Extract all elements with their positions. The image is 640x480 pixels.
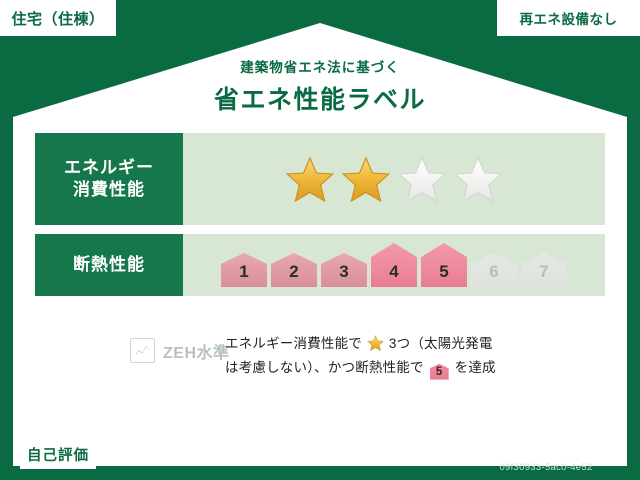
insulation-level-scale: 1 2 3 4 5 6 7 xyxy=(183,234,605,296)
insulation-badge-4: 4 xyxy=(371,243,417,287)
property-address: 千葉県市原市五井中央東二丁目 xyxy=(105,447,302,467)
title-block: 建築物省エネ法に基づく 省エネ性能ラベル xyxy=(0,56,640,116)
renewable-energy-tab: 再エネ設備なし xyxy=(497,0,640,36)
achievement-description-line1: エネルギー消費性能で 3つ（太陽光発電 xyxy=(225,332,615,356)
description-line2-post: を達成 xyxy=(455,360,496,375)
footer-bar: 自己評価 千葉県市原市五井中央東二丁目 評価日 2025年1月31日 09f30… xyxy=(0,434,640,480)
zeh-info-row: ZEH水準 エネルギー消費性能で 3つ（太陽光発電 は考慮しない）、かつ断熱性能… xyxy=(35,330,615,380)
star-icon-empty-4 xyxy=(454,156,502,202)
energy-performance-row: エネルギー 消費性能 xyxy=(35,133,605,225)
description-line1-pre: エネルギー消費性能で xyxy=(225,336,362,351)
inline-star-icon xyxy=(367,335,384,351)
energy-performance-label-line1: エネルギー xyxy=(64,157,154,179)
star-icon-empty-3 xyxy=(398,156,446,202)
insulation-badge-6-value: 6 xyxy=(489,262,498,282)
star-icon-filled-1 xyxy=(286,156,334,202)
description-line2-pre: は考慮しない）、かつ断熱性能で xyxy=(225,360,424,375)
energy-performance-label-line2: 消費性能 xyxy=(73,179,145,201)
page-title: 省エネ性能ラベル xyxy=(0,80,640,116)
insulation-badge-7: 7 xyxy=(521,253,567,287)
insulation-badge-5-value: 5 xyxy=(439,262,448,282)
building-type-label: 住宅（住棟） xyxy=(11,8,104,29)
energy-performance-label: 住宅（住棟） 再エネ設備なし 建築物省エネ法に基づく 省エネ性能ラベル エネルギ… xyxy=(0,0,640,480)
energy-performance-label: エネルギー 消費性能 xyxy=(35,133,183,225)
evaluation-type-badge: 自己評価 xyxy=(20,445,96,468)
insulation-badge-2: 2 xyxy=(271,253,317,287)
insulation-badge-3: 3 xyxy=(321,253,367,287)
zeh-chart-icon xyxy=(130,338,155,363)
insulation-badge-3-value: 3 xyxy=(339,262,348,282)
achievement-description: エネルギー消費性能で 3つ（太陽光発電 は考慮しない）、かつ断熱性能で 5 を達… xyxy=(225,330,615,380)
insulation-badge-5: 5 xyxy=(421,243,467,287)
achievement-description-line2: は考慮しない）、かつ断熱性能で 5 を達成 xyxy=(225,356,615,380)
energy-star-rating xyxy=(183,133,605,225)
insulation-badge-6: 6 xyxy=(471,253,517,287)
footer-left: 自己評価 千葉県市原市五井中央東二丁目 xyxy=(0,445,472,468)
insulation-performance-label-text: 断熱性能 xyxy=(73,254,145,276)
star-icon-filled-2 xyxy=(342,156,390,202)
description-line1-post: 3つ（太陽光発電 xyxy=(389,336,493,351)
insulation-badge-2-value: 2 xyxy=(289,262,298,282)
insulation-badge-1: 1 xyxy=(221,253,267,287)
insulation-badge-7-value: 7 xyxy=(539,262,548,282)
renewable-energy-label: 再エネ設備なし xyxy=(520,8,618,28)
insulation-badge-4-value: 4 xyxy=(389,262,398,282)
zeh-block: ZEH水準 xyxy=(35,330,225,363)
insulation-badges: 1 2 3 4 5 6 7 xyxy=(221,243,567,287)
insulation-performance-row: 断熱性能 1 2 3 4 5 6 7 xyxy=(35,234,605,296)
footer-right: 評価日 2025年1月31日 09f30933-5ac0-4e52 xyxy=(472,441,640,473)
building-type-tab: 住宅（住棟） xyxy=(0,0,116,36)
zeh-label: ZEH水準 xyxy=(163,339,230,363)
evaluation-id: 09f30933-5ac0-4e52 xyxy=(472,462,620,473)
insulation-performance-label: 断熱性能 xyxy=(35,234,183,296)
insulation-badge-1-value: 1 xyxy=(239,262,248,282)
evaluation-date: 評価日 2025年1月31日 xyxy=(472,441,620,461)
inline-insulation-badge: 5 xyxy=(430,364,449,380)
title-subtitle: 建築物省エネ法に基づく xyxy=(0,56,640,76)
